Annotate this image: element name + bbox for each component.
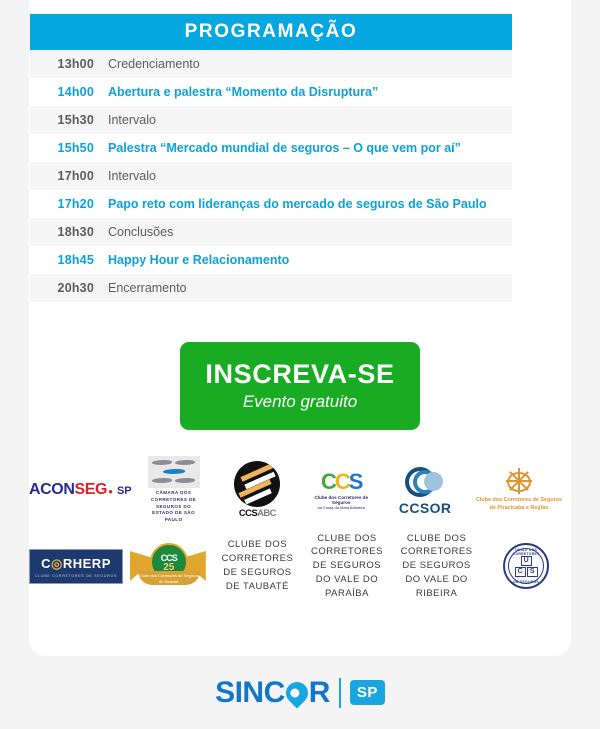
ccs-letter-2: C [335, 469, 349, 494]
seal-arc-bottom: DE SEGUROS [505, 580, 547, 584]
ccsabc-word1: CCS [239, 508, 257, 519]
pira-line2: de Piracicaba e Região [467, 504, 571, 512]
sponsor-row-2: C◎RHERP CLUBE CORRETORES DE SEGUROS CCS … [29, 528, 571, 604]
concentric-rings-icon [405, 465, 445, 499]
ccsor-logo: CCSOR [389, 465, 461, 516]
ccs-abc-logo: CCSABC [229, 461, 285, 519]
inscreva-se-button[interactable]: INSCREVA-SE Evento gratuito [180, 342, 420, 430]
table-row: 17h00 Intervalo [30, 162, 512, 190]
row-time: 14h00 [30, 85, 108, 99]
clube-corretores-vale-ribeira-logo: CLUBE DOS CORRETORES DE SEGUROS DO VALE … [401, 532, 473, 601]
ccsor-label: CCSOR [389, 500, 461, 516]
corherp-logo: C◎RHERP CLUBE CORRETORES DE SEGUROS [29, 549, 123, 584]
globe-icon: ◎ [51, 556, 63, 571]
row-time: 15h50 [30, 141, 108, 155]
row-title: Papo reto com lideranças do mercado de s… [108, 197, 487, 211]
row-time: 17h00 [30, 169, 108, 183]
sincor-part2: R [309, 676, 330, 710]
seal-letter-1: U [521, 556, 532, 566]
sponsor-cell[interactable]: ACON SEG ● SP [29, 454, 132, 526]
clube-corretores-taubate-logo: CLUBE DOS CORRETORES DE SEGUROS DE TAUBA… [221, 538, 293, 593]
row-time: 13h00 [30, 57, 108, 71]
row-title: Palestra “Mercado mundial de seguros – O… [108, 141, 461, 155]
table-row: 15h50 Palestra “Mercado mundial de segur… [30, 134, 512, 162]
ccs-piracicaba-logo: Clube dos Corretores de Seguros de Pirac… [467, 468, 571, 512]
sincor-sp-badge: SP [350, 680, 385, 705]
cta-main-label: INSCREVA-SE [205, 360, 394, 388]
corherp-word-a: C [41, 556, 51, 571]
ccs-taubate-medal-logo: CCS 25 Clube dos Corretores de Seguros d… [128, 541, 208, 591]
row-title: Encerramento [108, 281, 187, 295]
aconseg-part2: SEG [75, 481, 108, 499]
sponsor-cell[interactable]: CCSABC [215, 454, 299, 526]
email-newsletter-page: PROGRAMAÇÃO 13h00 Credenciamento 14h00 A… [0, 0, 600, 729]
sincor-sp-logo[interactable]: SINC R SP [215, 676, 385, 710]
table-row: 14h00 Abertura e palestra “Momento da Di… [30, 78, 512, 106]
ccs-costa-mata-atlantica-logo: CCS Clube dos Corretores de Seguros da C… [305, 471, 377, 510]
row-title: Intervalo [108, 113, 156, 127]
sponsor-cell[interactable]: CCS Clube dos Corretores de Seguros da C… [299, 454, 383, 526]
corherp-tagline: CLUBE CORRETORES DE SEGUROS [34, 574, 118, 578]
ccsmata-line2: da Costa da Mata Atlântica [305, 505, 377, 510]
corherp-word-b: RHERP [63, 556, 111, 571]
sponsor-cell[interactable]: C◎RHERP CLUBE CORRETORES DE SEGUROS [29, 530, 123, 602]
uniao-corretores-seal-logo: UNIÃO DOS CORRETORES U C S DE SEGUROS [503, 543, 549, 589]
seal-letter-3: S [527, 567, 538, 577]
cta-container: INSCREVA-SE Evento gratuito [29, 342, 571, 430]
ccs-letter-3: S [349, 469, 362, 494]
medal-band: Clube dos Corretores de Seguros de Tauba… [138, 571, 200, 585]
row-title: Happy Hour e Relacionamento [108, 253, 289, 267]
sponsor-logos: ACON SEG ● SP CÂMARA DOS CORRETORES DE S… [29, 452, 571, 604]
row-title: Credenciamento [108, 57, 200, 71]
sponsor-row-1: ACON SEG ● SP CÂMARA DOS CORRETORES DE S… [29, 452, 571, 528]
table-row: 15h30 Intervalo [30, 106, 512, 134]
row-title: Intervalo [108, 169, 156, 183]
table-row: 18h45 Happy Hour e Relacionamento [30, 246, 512, 274]
medal-mark: CCS [161, 553, 177, 563]
schedule-header: PROGRAMAÇÃO [30, 14, 512, 50]
sponsor-cell[interactable]: CLUBE DOS CORRETORES DE SEGUROS DO VALE … [302, 530, 392, 602]
footer: SINC R SP [0, 656, 600, 729]
waves-icon [148, 456, 200, 488]
water-drop-icon [281, 677, 312, 708]
row-time: 20h30 [30, 281, 108, 295]
ccsmata-line1: Clube dos Corretores de Seguros [305, 495, 377, 505]
sponsor-cell[interactable]: CLUBE DOS CORRETORES DE SEGUROS DO VALE … [392, 530, 482, 602]
ship-wheel-icon [504, 468, 534, 494]
pira-line1: Clube dos Corretores de Seguros [467, 496, 571, 504]
aconseg-sp-logo: ACON SEG ● SP [29, 481, 132, 499]
seal-arc-top: UNIÃO DOS CORRETORES [505, 548, 547, 556]
row-time: 18h45 [30, 253, 108, 267]
ccs-letter-1: C [321, 469, 335, 494]
sponsor-cell[interactable]: UNIÃO DOS CORRETORES U C S DE SEGUROS [481, 530, 571, 602]
cta-sub-label: Evento gratuito [243, 392, 357, 412]
camara-caption: CÂMARA DOS CORRETORES DE SEGUROS DO ESTA… [146, 490, 202, 523]
row-time: 15h30 [30, 113, 108, 127]
sincor-part1: SINC [215, 676, 285, 710]
row-title: Conclusões [108, 225, 173, 239]
sponsor-cell[interactable]: Clube dos Corretores de Seguros de Pirac… [467, 454, 571, 526]
aconseg-part1: ACON [29, 481, 75, 499]
table-row: 13h00 Credenciamento [30, 50, 512, 78]
aconseg-suffix: SP [117, 485, 132, 497]
registered-dot-icon: ● [108, 487, 113, 496]
seal-letter-2: C [515, 567, 526, 577]
sponsor-cell[interactable]: CÂMARA DOS CORRETORES DE SEGUROS DO ESTA… [132, 454, 216, 526]
sponsor-cell[interactable]: CLUBE DOS CORRETORES DE SEGUROS DE TAUBA… [213, 530, 303, 602]
clube-corretores-vale-paraiba-logo: CLUBE DOS CORRETORES DE SEGUROS DO VALE … [311, 532, 383, 601]
schedule-table: PROGRAMAÇÃO 13h00 Credenciamento 14h00 A… [30, 14, 512, 302]
row-time: 17h20 [30, 197, 108, 211]
divider [339, 678, 341, 708]
row-title: Abertura e palestra “Momento da Disruptu… [108, 85, 378, 99]
table-row: 17h20 Papo reto com lideranças do mercad… [30, 190, 512, 218]
ccsabc-word2: ABC [257, 508, 276, 519]
table-row: 20h30 Encerramento [30, 274, 512, 302]
camara-corretores-sp-logo: CÂMARA DOS CORRETORES DE SEGUROS DO ESTA… [146, 456, 202, 523]
table-row: 18h30 Conclusões [30, 218, 512, 246]
sponsor-cell[interactable]: CCSOR [383, 454, 467, 526]
row-time: 18h30 [30, 225, 108, 239]
disc-icon [234, 461, 280, 507]
sponsor-cell[interactable]: CCS 25 Clube dos Corretores de Seguros d… [123, 530, 213, 602]
